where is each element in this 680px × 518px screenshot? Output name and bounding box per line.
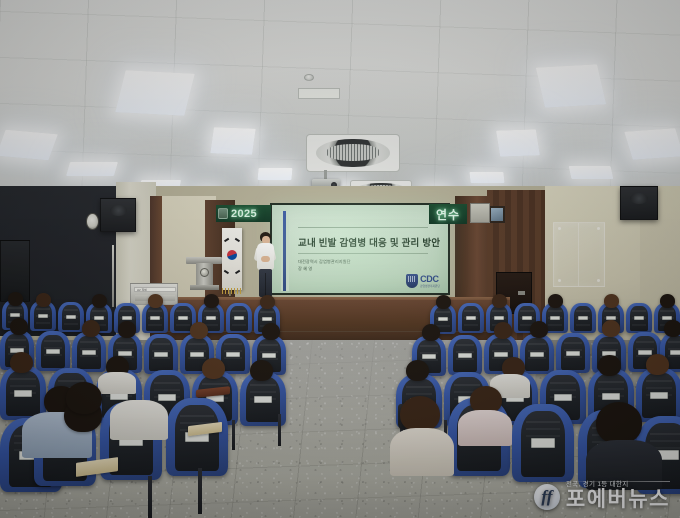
attendee-head bbox=[436, 295, 451, 309]
attendee-head bbox=[204, 294, 219, 308]
attendee-head bbox=[660, 294, 675, 308]
auditorium-seat[interactable] bbox=[520, 334, 554, 374]
seat-number-tag bbox=[254, 396, 272, 403]
speaker-cone-icon bbox=[110, 205, 127, 216]
seat-number-tag bbox=[438, 317, 448, 321]
watermark-text-group: 전국, 경기 1등 대한지 포에버뉴스 bbox=[566, 478, 670, 510]
auditorium-seat[interactable] bbox=[166, 398, 228, 476]
ceiling-light-panel bbox=[210, 127, 255, 154]
seat-number-tag bbox=[38, 314, 48, 318]
attendee-head bbox=[494, 322, 512, 339]
cdc-logo: CDC 감염병관리지원단 bbox=[406, 274, 440, 288]
ceiling-light-panel bbox=[624, 128, 680, 160]
slide-accent-bar bbox=[283, 211, 286, 291]
smoke-detector-icon bbox=[304, 74, 314, 81]
ceiling-light-panel bbox=[0, 130, 58, 161]
seat-number-tag bbox=[531, 438, 556, 448]
flag-fringe bbox=[222, 288, 242, 294]
wall-speaker bbox=[620, 186, 658, 220]
projection-screen: 교내 빈발 감염병 대응 및 관리 방안 대전광역시 감염병관리지원단 장 혜 … bbox=[272, 205, 448, 293]
ceiling-light-panel bbox=[536, 64, 606, 107]
seat-number-tag bbox=[46, 349, 60, 354]
seat-support-leg bbox=[148, 476, 152, 518]
auditorium-seat[interactable] bbox=[0, 366, 46, 420]
seat-number-tag bbox=[226, 352, 240, 357]
attendee-head bbox=[604, 294, 619, 308]
attendee-head bbox=[548, 294, 563, 308]
av-cart-label: AV 장비 bbox=[134, 287, 176, 292]
auditorium-seat[interactable] bbox=[636, 368, 680, 422]
auditorium-seat[interactable] bbox=[556, 333, 590, 373]
seat-number-tag bbox=[494, 352, 508, 357]
attendee-head bbox=[602, 320, 620, 337]
seat-number-tag bbox=[66, 315, 76, 319]
auditorium-seat[interactable] bbox=[448, 335, 482, 375]
banner-logo-icon bbox=[218, 208, 228, 219]
attendee-shoulders bbox=[458, 410, 512, 446]
seat-number-tag bbox=[234, 316, 244, 320]
wall-clock-icon bbox=[86, 213, 99, 230]
attendee-head bbox=[530, 321, 548, 338]
seat-number-tag bbox=[638, 350, 652, 355]
flag-trigram-bar bbox=[235, 269, 240, 273]
seat-support-leg bbox=[278, 414, 281, 446]
attendee-head bbox=[646, 354, 669, 375]
seat-number-tag bbox=[494, 316, 504, 320]
korean-flag bbox=[222, 228, 242, 290]
attendee-shoulders bbox=[110, 400, 168, 440]
attendee-head bbox=[262, 323, 280, 340]
ceiling-air-vent bbox=[306, 134, 400, 172]
seat-number-tag bbox=[422, 354, 436, 359]
auditorium-seat[interactable] bbox=[36, 331, 70, 371]
seat-number-tag bbox=[154, 352, 168, 357]
seat-number-tag bbox=[94, 316, 104, 320]
ceiling bbox=[0, 0, 680, 196]
attendee-head bbox=[260, 295, 275, 309]
seat-number-tag bbox=[82, 350, 96, 355]
framed-picture bbox=[489, 206, 505, 223]
wall-sign-right bbox=[470, 203, 490, 223]
presenter bbox=[252, 232, 278, 298]
seat-number-tag bbox=[530, 352, 544, 357]
auditorium-seat[interactable] bbox=[626, 303, 652, 333]
speaker-cone-icon bbox=[630, 193, 648, 204]
ceiling-light-panel bbox=[569, 166, 614, 179]
seat-number-tag bbox=[10, 313, 20, 317]
attendee-head bbox=[250, 360, 273, 381]
seat-number-tag bbox=[634, 316, 644, 320]
attendee-shoulders bbox=[98, 372, 136, 394]
seat-number-tag bbox=[206, 316, 216, 320]
auditorium-seat[interactable] bbox=[226, 303, 252, 333]
attendee-head bbox=[10, 318, 28, 335]
vent-slats bbox=[327, 144, 379, 161]
seat-number-tag bbox=[670, 350, 680, 355]
seat-number-tag bbox=[458, 353, 472, 358]
seat-number-tag bbox=[158, 394, 176, 401]
presenter-legs bbox=[259, 269, 272, 297]
seat-number-tag bbox=[566, 351, 580, 356]
ceiling-light-panel bbox=[257, 168, 292, 180]
attendee-head bbox=[422, 324, 440, 341]
presenter-hands bbox=[261, 256, 270, 262]
seat-number-tag bbox=[602, 393, 620, 400]
cdc-shield-icon bbox=[406, 274, 418, 288]
glass-notice-board bbox=[553, 222, 605, 287]
foreverynews-logo-icon bbox=[534, 484, 560, 510]
notice-board-divider bbox=[578, 223, 579, 286]
seat-number-tag bbox=[178, 316, 188, 320]
attendee-head bbox=[66, 382, 102, 414]
cdc-logo-text: CDC bbox=[420, 275, 440, 284]
seat-number-tag bbox=[466, 316, 476, 320]
attendee-head bbox=[664, 320, 680, 337]
banner-left: 2025 bbox=[216, 205, 271, 222]
seat-number-tag bbox=[118, 351, 132, 356]
podium-emblem-icon bbox=[200, 268, 209, 277]
auditorium-photo: 교내 빈발 감염병 대응 및 관리 방안 대전광역시 감염병관리지원단 장 혜 … bbox=[0, 0, 680, 518]
news-watermark: 전국, 경기 1등 대한지 포에버뉴스 bbox=[534, 478, 670, 510]
banner-right: 연수 bbox=[429, 204, 467, 224]
attendee-head bbox=[118, 321, 136, 338]
ceiling-light-panel bbox=[496, 129, 540, 156]
slide-subtitle-presenter-name: 장 혜 영 bbox=[298, 266, 312, 272]
seat-support-leg bbox=[198, 468, 202, 514]
attendee-head bbox=[598, 355, 621, 376]
microphone-stand bbox=[112, 245, 114, 307]
slide-mid-rule bbox=[298, 253, 428, 254]
attendee-head bbox=[492, 294, 507, 308]
ceiling-light-panel bbox=[469, 172, 504, 183]
seat-number-tag bbox=[522, 316, 532, 320]
ceiling-access-panel bbox=[298, 88, 340, 99]
auditorium-seat[interactable] bbox=[570, 303, 596, 333]
flag-trigram-bar bbox=[235, 238, 240, 242]
wall-speaker bbox=[100, 198, 136, 232]
attendee-head bbox=[406, 360, 429, 381]
seat-number-tag bbox=[122, 316, 132, 320]
taeguk-icon bbox=[227, 250, 237, 260]
flag-trigram-bar bbox=[224, 238, 229, 242]
seat-number-tag bbox=[550, 316, 560, 320]
seat-number-tag bbox=[262, 317, 272, 321]
attendee-head bbox=[82, 320, 100, 337]
podium-base bbox=[190, 285, 219, 290]
attendee-head bbox=[8, 292, 23, 306]
slide-title: 교내 빈발 감염병 대응 및 관리 방안 bbox=[298, 235, 443, 249]
attendee-shoulders bbox=[390, 428, 454, 476]
notice-board-stud bbox=[558, 279, 561, 282]
auditorium-seat[interactable] bbox=[144, 334, 178, 374]
auditorium-seat[interactable] bbox=[458, 303, 484, 333]
slide-subtitle-organization: 대전광역시 감염병관리지원단 bbox=[298, 259, 351, 265]
seat-number-tag bbox=[650, 392, 668, 399]
cdc-logo-subtext: 감염병관리지원단 bbox=[420, 284, 440, 288]
projection-screen-frame: 교내 빈발 감염병 대응 및 관리 방안 대전광역시 감염병관리지원단 장 혜 … bbox=[270, 203, 450, 295]
seat-support-leg bbox=[232, 420, 235, 450]
seat-number-tag bbox=[578, 316, 588, 320]
seat-number-tag bbox=[262, 353, 276, 358]
auditorium-seat[interactable] bbox=[58, 302, 84, 332]
notice-board-stud bbox=[597, 227, 600, 230]
flag-trigram-bar bbox=[224, 269, 229, 273]
notice-board-stud bbox=[558, 227, 561, 230]
attendee-head bbox=[148, 294, 163, 308]
seat-number-tag bbox=[150, 316, 160, 320]
notice-board-stud bbox=[597, 279, 600, 282]
attendee-head bbox=[202, 358, 225, 379]
attendee-head bbox=[190, 322, 208, 339]
attendee-head bbox=[36, 293, 51, 307]
slide-top-rule bbox=[298, 227, 428, 228]
ceiling-light-panel bbox=[115, 70, 195, 116]
banner-year-text: 2025 bbox=[231, 208, 257, 220]
seat-number-tag bbox=[14, 390, 32, 397]
attendee-head bbox=[400, 396, 440, 432]
ceiling-light-panel bbox=[66, 162, 118, 176]
watermark-brand: 포에버뉴스 bbox=[566, 489, 670, 510]
auditorium-seat[interactable] bbox=[72, 332, 106, 372]
attendee-head bbox=[10, 352, 33, 373]
auditorium-seat[interactable] bbox=[512, 404, 574, 482]
seat-number-tag bbox=[554, 394, 572, 401]
attendee-head bbox=[596, 402, 642, 444]
banner-word-text: 연수 bbox=[436, 206, 460, 223]
seat-number-tag bbox=[190, 352, 204, 357]
watermark-tagline: 전국, 경기 1등 대한지 bbox=[566, 478, 629, 488]
attendee-head bbox=[92, 294, 107, 308]
cabinet-latch-icon bbox=[518, 291, 525, 295]
